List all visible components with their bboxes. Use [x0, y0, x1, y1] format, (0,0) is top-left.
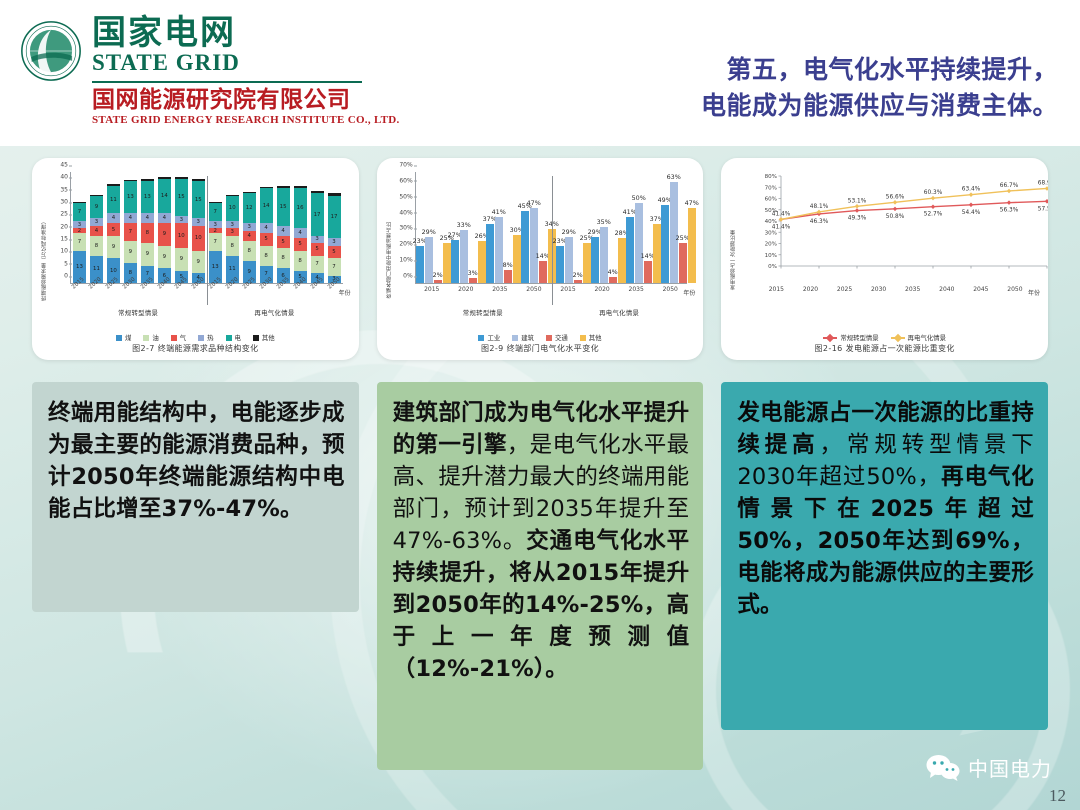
- legend-label: 煤: [125, 333, 131, 342]
- text-segment: 终端用能结构中，电能逐步成为最主要的能源消费品种，预计2050年终端能源结构中电…: [48, 400, 345, 522]
- bar-value-label: 41%: [492, 208, 506, 216]
- y-tick-label: 40%: [399, 209, 412, 216]
- bar: 37%: [486, 224, 494, 283]
- bar-segment: 9: [158, 246, 171, 268]
- scenario-label: 再电气化情景: [206, 308, 342, 317]
- y-tick-label: 10%: [399, 257, 412, 264]
- bar: 14%: [644, 261, 652, 283]
- data-point: [893, 200, 898, 205]
- bar-segment: 10: [175, 223, 188, 248]
- bar-segment: 4: [158, 213, 171, 223]
- stacked-bar: 785414: [260, 187, 273, 283]
- bar-segment: 5: [294, 238, 307, 250]
- bar-segment: 16: [294, 188, 307, 228]
- bar-value-label: 8%: [503, 261, 513, 269]
- legend-item: 其他: [580, 333, 602, 342]
- data-point: [969, 203, 974, 208]
- legend-item: 工业: [478, 333, 500, 342]
- bar-segment: 3: [328, 238, 341, 245]
- stacked-bar: 585416: [294, 186, 307, 283]
- bar-segment: 9: [175, 248, 188, 270]
- bar-segment: 4: [243, 231, 256, 241]
- data-point-label: 41.4%: [772, 211, 791, 217]
- legend-swatch: [171, 335, 177, 341]
- legend-item: 交通: [546, 333, 568, 342]
- legend-item: 其他: [253, 333, 275, 342]
- x-tick-label: 2030: [871, 286, 886, 306]
- legend-swatch: [198, 335, 204, 341]
- stacked-bar: 375317: [328, 193, 341, 283]
- bar: 3%: [469, 278, 477, 283]
- bar-value-label: 47%: [685, 199, 699, 207]
- chart3-caption: 图2-16 发电能源占一次能源比重变化: [729, 343, 1040, 354]
- x-tick-label: 2050: [663, 286, 678, 306]
- charts-row: 终端能源需求量（万亿吨标准煤） 137237118439109541189741…: [0, 158, 1080, 360]
- chart2-y-axis-title: 终端各部门用能中电能消费占比: [387, 222, 393, 299]
- y-tick-label: 70%: [765, 185, 777, 191]
- bar-group: 29%35%4%28%: [591, 227, 626, 283]
- bar-segment: 7: [328, 258, 341, 275]
- legend-line-swatch: [823, 337, 837, 339]
- stacked-bar: 685415: [277, 186, 290, 283]
- y-tick-label: 20%: [765, 242, 777, 248]
- bar-segment: 15: [277, 188, 290, 225]
- text-box-power-generation: 发电能源占一次能源的比重持续提高，常规转型情景下2030年超过50%，再电气化情…: [721, 382, 1048, 730]
- bar-segment: 3: [73, 221, 86, 228]
- bar: 25%: [443, 243, 451, 283]
- data-point-label: 68.9%: [1038, 180, 1048, 186]
- bar-segment: 9: [192, 251, 205, 273]
- logo-divider: [92, 81, 362, 83]
- legend-label: 建筑: [521, 333, 534, 342]
- data-point-label: 46.3%: [810, 219, 829, 225]
- y-tick-label: 10%: [765, 253, 777, 259]
- bar-segment: 8: [243, 241, 256, 261]
- bar-segment: 5: [311, 243, 324, 255]
- bar-group: 37%41%8%30%: [486, 217, 521, 283]
- legend-swatch: [253, 335, 259, 341]
- bar: 30%: [513, 235, 521, 283]
- bar-segment: 9: [107, 236, 120, 258]
- bar-segment: 5: [277, 236, 290, 248]
- stacked-bar: 137237: [209, 202, 222, 283]
- bar-segment: 17: [311, 193, 324, 235]
- bar-segment: 3: [311, 236, 324, 243]
- x-tick-label: 2045: [973, 286, 988, 306]
- bar-segment: 3: [175, 216, 188, 223]
- legend-line-swatch: [891, 337, 905, 339]
- chart1-plot-area: 1372371184391095411897413798413699414591…: [70, 172, 343, 284]
- bar-value-label: 2%: [573, 271, 583, 279]
- x-tick-label: 2035: [629, 286, 644, 306]
- chart-card-terminal-energy-mix: 终端能源需求量（万亿吨标准煤） 137237118439109541189741…: [32, 158, 359, 360]
- chart2-scenario-labels: 常规转型情景再电气化情景: [415, 308, 688, 317]
- legend-swatch: [226, 335, 232, 341]
- data-point-label: 49.3%: [848, 216, 867, 222]
- y-tick-label: 60%: [399, 177, 412, 184]
- legend-label: 其他: [262, 333, 275, 342]
- bar-group: 23%29%2%25%: [556, 237, 591, 283]
- y-tick-label: 80%: [765, 174, 777, 180]
- page-title-line-2: 电能成为能源供应与消费主体。: [628, 88, 1058, 124]
- bar-group: 45%47%14%34%: [521, 208, 556, 283]
- data-point-label: 57.5%: [1038, 206, 1048, 212]
- bar-segment: 4: [277, 226, 290, 236]
- bar-value-label: 47%: [527, 199, 541, 207]
- bar: 8%: [504, 270, 512, 283]
- stacked-bar: 897413: [124, 180, 137, 284]
- chart3-x-axis-title: 年份: [1028, 288, 1040, 297]
- legend-item: 常规转型情景: [823, 333, 878, 342]
- bar-segment: 15: [192, 181, 205, 218]
- chart3-legend: 常规转型情景再电气化情景: [729, 333, 1040, 342]
- data-point: [931, 204, 936, 209]
- bar-segment: 13: [124, 181, 137, 213]
- bar-group: 27%33%3%26%: [451, 230, 486, 283]
- chart1-x-tick-labels: 2015202020252030203520402045205020152020…: [70, 286, 343, 306]
- bar: 50%: [635, 203, 643, 283]
- x-tick-label: 2015: [424, 286, 439, 306]
- data-point-label: 52.7%: [924, 212, 943, 218]
- stacked-bar: 4910315: [192, 179, 205, 283]
- page-title: 第五，电气化水平持续提升， 电能成为能源供应与消费主体。: [628, 52, 1058, 125]
- bar-segment: 4: [90, 226, 103, 236]
- stacked-bar: 118439: [90, 195, 103, 283]
- bar-segment: 9: [141, 243, 154, 265]
- chart3-plot-area: 0%10%20%30%40%50%60%70%80%41.4%46.3%49.3…: [755, 170, 1048, 288]
- bar-segment: 9: [90, 196, 103, 218]
- x-tick-label: 2050: [1007, 286, 1022, 306]
- chart2-plot-area: 23%29%2%25%27%33%3%26%37%41%8%30%45%47%1…: [415, 172, 688, 284]
- bar-segment: 10: [226, 196, 239, 221]
- y-tick-label: 30: [60, 199, 68, 206]
- chart2-x-tick-labels: 20152020203520502015202020352050: [415, 286, 688, 306]
- bar-segment: 14: [260, 188, 273, 223]
- bar-value-label: 3%: [468, 269, 478, 277]
- bar-segment: 13: [141, 181, 154, 213]
- y-tick-label: 50%: [399, 193, 412, 200]
- bar-segment: 8: [90, 236, 103, 256]
- legend-swatch: [546, 335, 552, 341]
- slide: 国家电网 STATE GRID 国网能源研究院有限公司 STATE GRID E…: [0, 0, 1080, 810]
- data-point: [855, 208, 860, 213]
- bar-segment: 17: [328, 196, 341, 238]
- chart1-y-axis-title: 终端能源需求量（万亿吨标准煤）: [42, 219, 48, 302]
- bar: 47%: [688, 208, 696, 283]
- y-tick-label: 25: [60, 211, 68, 218]
- bar: 29%: [425, 237, 433, 283]
- legend-item: 油: [143, 333, 158, 342]
- text-box-terminal-energy: 终端用能结构中，电能逐步成为最主要的能源消费品种，预计2050年终端能源结构中电…: [32, 382, 359, 612]
- chart1-x-axis-title: 年份: [339, 288, 351, 297]
- data-point-label: 54.4%: [962, 210, 981, 216]
- bar-segment: 4: [141, 213, 154, 223]
- slide-header: 国家电网 STATE GRID 国网能源研究院有限公司 STATE GRID E…: [0, 0, 1080, 146]
- bar-segment: 3: [243, 223, 256, 230]
- bar-segment: 3: [226, 221, 239, 228]
- bar-segment: 3: [209, 221, 222, 228]
- chart3-x-tick-labels: 20152020202520302035204020452050: [759, 286, 1032, 306]
- bar-segment: 8: [294, 251, 307, 271]
- bar-segment: 4: [294, 228, 307, 238]
- bar-segment: 7: [209, 203, 222, 220]
- chart1-legend: 煤油气热电其他: [40, 333, 351, 342]
- x-tick-label: 2015: [560, 286, 575, 306]
- x-tick-label: 2035: [905, 286, 920, 306]
- text-boxes-row: 终端用能结构中，电能逐步成为最主要的能源消费品种，预计2050年终端能源结构中电…: [0, 382, 1080, 770]
- data-point-label: 53.1%: [848, 198, 867, 204]
- bar: 23%: [556, 246, 564, 283]
- logo-brand-cn: 国家电网: [92, 16, 400, 51]
- y-tick-label: 30%: [765, 230, 777, 236]
- legend-swatch: [478, 335, 484, 341]
- bar-segment: 7: [73, 233, 86, 250]
- bar-segment: 11: [107, 186, 120, 213]
- bar-segment: 8: [260, 246, 273, 266]
- bar: 28%: [618, 238, 626, 283]
- legend-item: 热: [198, 333, 213, 342]
- bar: 4%: [609, 277, 617, 283]
- wechat-icon: [926, 754, 960, 782]
- y-tick-label: 20: [60, 223, 68, 230]
- wechat-watermark: 中国电力: [926, 753, 1052, 782]
- bar-value-label: 4%: [608, 268, 618, 276]
- data-point-label: 63.4%: [962, 187, 981, 193]
- data-point-label: 50.8%: [886, 214, 905, 220]
- legend-swatch: [512, 335, 518, 341]
- bar-segment: 7: [311, 256, 324, 273]
- legend-label: 再电气化情景: [908, 333, 946, 342]
- stacked-bar: 699414: [158, 177, 171, 283]
- legend-label: 其他: [589, 333, 602, 342]
- bar-segment: 9: [158, 223, 171, 245]
- y-tick-label: 15: [60, 236, 68, 243]
- chart2-caption: 图2-9 终端部门电气化水平变化: [385, 343, 696, 354]
- bar-segment: 4: [260, 223, 273, 233]
- legend-marker: [826, 333, 834, 341]
- bar: 49%: [661, 205, 669, 283]
- legend-item: 再电气化情景: [891, 333, 946, 342]
- x-tick-label: 2020: [458, 286, 473, 306]
- bar-segment: 15: [175, 179, 188, 216]
- legend-item: 电: [226, 333, 241, 342]
- stacked-bar: 798413: [141, 179, 154, 283]
- state-grid-globe-icon: [20, 20, 82, 82]
- data-point-label: 66.7%: [1000, 183, 1019, 189]
- x-tick-label: 2025: [837, 286, 852, 306]
- y-tick-label: 0%: [403, 273, 413, 280]
- bar: 29%: [565, 237, 573, 283]
- bar: 29%: [591, 237, 599, 283]
- y-tick-label: 10: [60, 248, 68, 255]
- legend-label: 电: [235, 333, 241, 342]
- bar-segment: 8: [141, 223, 154, 243]
- chart-card-sector-electrification: 终端各部门用能中电能消费占比 23%29%2%25%27%33%3%26%37%…: [377, 158, 704, 360]
- legend-swatch: [580, 335, 586, 341]
- y-tick-label: 45: [60, 162, 68, 169]
- bar: 41%: [495, 217, 503, 283]
- chart2-legend: 工业建筑交通其他: [385, 333, 696, 342]
- data-point: [1045, 199, 1048, 204]
- x-tick-label: 2015: [769, 286, 784, 306]
- bar: 33%: [460, 230, 468, 283]
- x-tick-label: 2035: [492, 286, 507, 306]
- x-tick-label: 2040: [939, 286, 954, 306]
- bar-segment: 12: [243, 193, 256, 223]
- legend-label: 工业: [487, 333, 500, 342]
- bar-value-label: 63%: [667, 173, 681, 181]
- chart1-scenario-labels: 常规转型情景再电气化情景: [70, 308, 343, 317]
- legend-label: 常规转型情景: [840, 333, 878, 342]
- legend-item: 建筑: [512, 333, 534, 342]
- bar: 35%: [600, 227, 608, 283]
- bar: 25%: [583, 243, 591, 283]
- scenario-label: 再电气化情景: [551, 308, 687, 317]
- bar-segment: 9: [124, 241, 137, 263]
- legend-swatch: [143, 335, 149, 341]
- wechat-label: 中国电力: [968, 753, 1052, 782]
- stacked-bar: 1183310: [226, 195, 239, 283]
- bar-segment: 8: [277, 248, 290, 268]
- y-tick-label: 30%: [399, 225, 412, 232]
- chart1-caption: 图2-7 终端能源需求品种结构变化: [40, 343, 351, 354]
- bar-segment: 4: [124, 213, 137, 223]
- legend-label: 油: [152, 333, 158, 342]
- chart-card-generation-share: 发电能源占一次能源比重 0%10%20%30%40%50%60%70%80%41…: [721, 158, 1048, 360]
- data-point: [1007, 189, 1012, 194]
- data-point-label: 60.3%: [924, 190, 943, 196]
- bar: 2%: [574, 280, 582, 283]
- chart2-x-axis-title: 年份: [683, 288, 695, 297]
- bar-segment: 8: [226, 236, 239, 256]
- state-grid-logo: 国家电网 STATE GRID 国网能源研究院有限公司 STATE GRID E…: [20, 14, 400, 126]
- stacked-bar: 1095411: [107, 184, 120, 283]
- bar: 47%: [530, 208, 538, 283]
- bar-group: 23%29%2%25%: [416, 237, 451, 283]
- page-number: 12: [1049, 786, 1066, 806]
- y-tick-label: 40: [60, 174, 68, 181]
- bar-value-label: 35%: [597, 218, 611, 226]
- logo-brand-en: STATE GRID: [92, 50, 400, 75]
- x-tick-label: 2020: [803, 286, 818, 306]
- data-point: [893, 207, 898, 212]
- bar: 26%: [478, 241, 486, 283]
- bar: 27%: [451, 240, 459, 283]
- data-point: [1045, 186, 1048, 191]
- stacked-bar: 137237: [73, 202, 86, 283]
- data-point: [969, 192, 974, 197]
- y-tick-label: 0: [64, 273, 68, 280]
- data-point: [931, 196, 936, 201]
- bar: 14%: [539, 261, 547, 283]
- legend-label: 气: [180, 333, 186, 342]
- legend-swatch: [116, 335, 122, 341]
- y-tick-label: 20%: [399, 241, 412, 248]
- bar-segment: 7: [73, 203, 86, 220]
- data-point-label: 48.1%: [810, 204, 829, 210]
- logo-institute-cn: 国网能源研究院有限公司: [92, 87, 400, 113]
- bar: 63%: [670, 182, 678, 283]
- data-point-label: 56.3%: [1000, 208, 1019, 214]
- stacked-bar: 5910315: [175, 177, 188, 283]
- bar-value-label: 33%: [457, 221, 471, 229]
- y-tick-label: 70%: [399, 162, 412, 169]
- page-title-line-1: 第五，电气化水平持续提升，: [628, 52, 1058, 88]
- bar-segment: 4: [107, 213, 120, 223]
- y-tick-label: 60%: [765, 197, 777, 203]
- legend-label: 热: [207, 333, 213, 342]
- bar-segment: 5: [260, 233, 273, 245]
- stacked-bar: 984312: [243, 192, 256, 283]
- bar: 41%: [626, 217, 634, 283]
- bar-segment: 7: [124, 223, 137, 240]
- bar-segment: 7: [209, 233, 222, 250]
- y-tick-label: 5: [64, 260, 68, 267]
- bar: 25%: [679, 243, 687, 283]
- y-tick-label: 0%: [768, 264, 777, 270]
- bar-segment: 5: [107, 223, 120, 235]
- data-point-label: 41.4%: [772, 224, 791, 230]
- bar-value-label: 2%: [433, 271, 443, 279]
- logo-institute-en: STATE GRID ENERGY RESEARCH INSTITUTE CO.…: [92, 114, 400, 126]
- legend-marker: [893, 333, 901, 341]
- bar-value-label: 50%: [632, 194, 646, 202]
- bar-segment: 14: [158, 179, 171, 214]
- legend-item: 煤: [116, 333, 131, 342]
- data-point: [855, 204, 860, 209]
- bar-segment: 3: [226, 228, 239, 235]
- x-tick-label: 2050: [526, 286, 541, 306]
- text-box-building-sector: 建筑部门成为电气化水平提升的第一引擎，是电气化水平最高、提升潜力最大的终端用能部…: [377, 382, 704, 770]
- bar-value-label: 29%: [562, 228, 576, 236]
- bar-group: 41%50%14%37%: [626, 203, 661, 283]
- bar: 45%: [521, 211, 529, 283]
- bar-segment: 3: [192, 218, 205, 225]
- legend-item: 气: [171, 333, 186, 342]
- x-tick-label: 2020: [594, 286, 609, 306]
- data-point-label: 56.6%: [886, 194, 905, 200]
- legend-label: 交通: [555, 333, 568, 342]
- bar-segment: 5: [328, 246, 341, 258]
- chart3-y-axis-title: 发电能源占一次能源比重: [731, 230, 737, 291]
- scenario-label: 常规转型情景: [415, 308, 551, 317]
- y-tick-label: 35: [60, 186, 68, 193]
- bar-value-label: 29%: [422, 228, 436, 236]
- stacked-bar: 475317: [311, 191, 324, 283]
- bar: 2%: [434, 280, 442, 283]
- bar-group: 49%63%25%47%: [661, 182, 696, 283]
- scenario-label: 常规转型情景: [70, 308, 206, 317]
- bar: 37%: [653, 224, 661, 283]
- bar: 23%: [416, 246, 424, 283]
- data-point: [1007, 200, 1012, 205]
- bar-segment: 3: [90, 218, 103, 225]
- bar-segment: 10: [192, 226, 205, 251]
